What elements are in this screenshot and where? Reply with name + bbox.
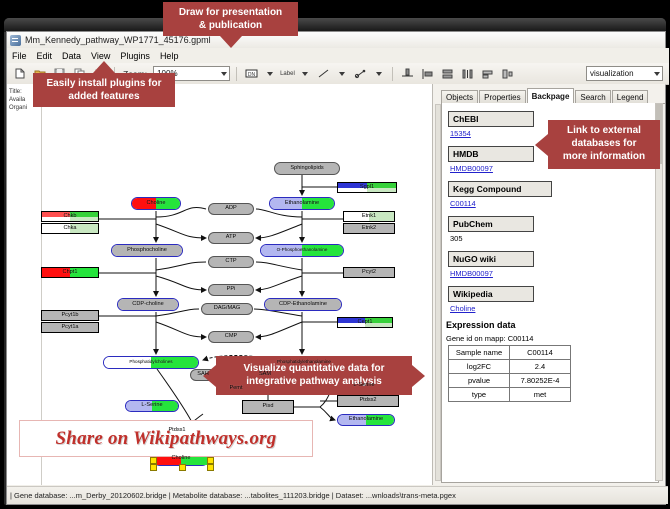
node-label: DAG/MAG <box>214 306 240 312</box>
gene-id-line: Gene id on mapp: C00114 <box>446 334 658 343</box>
stack-vertical-icon[interactable] <box>439 65 456 82</box>
pathway-node-pcyt1b[interactable]: Pcyt1b <box>41 310 99 321</box>
tab-objects[interactable]: Objects <box>441 90 478 103</box>
visualization-combobox[interactable]: visualization <box>586 66 663 81</box>
db-header-kegg: Kegg Compound <box>448 181 552 197</box>
callout-plugins: Easily install plugins for added feature… <box>33 73 175 107</box>
pathway-node-pcyt2[interactable]: Pcyt2 <box>343 267 395 278</box>
tab-legend[interactable]: Legend <box>612 90 649 103</box>
db-header-wikipedia: Wikipedia <box>448 286 534 302</box>
node-label: SAH <box>197 372 209 378</box>
table-row: log2FC 2.4 <box>449 360 571 374</box>
menu-item-edit[interactable]: Edit <box>36 51 54 61</box>
node-label: CDP-Ethanolamine <box>279 302 327 308</box>
svg-text:DN: DN <box>248 72 256 78</box>
db-value-pubchem: 305 <box>450 234 658 243</box>
pathway-node-pcyt1a[interactable]: Pcyt1a <box>41 322 99 333</box>
menu-item-help[interactable]: Help <box>159 51 180 61</box>
side-panel-tabs: Objects Properties Backpage Search Legen… <box>441 88 665 104</box>
db-link-nugo[interactable]: HMDB00097 <box>450 269 658 278</box>
callout-arrow-left <box>535 134 548 156</box>
pathway-node-phosphocholine[interactable]: Phosphocholine <box>111 244 183 257</box>
pathway-node-cdp_ethanolamine[interactable]: CDP-Ethanolamine <box>264 298 342 311</box>
toolbar-separator <box>236 67 237 81</box>
datanode-tool-icon[interactable]: DN <box>243 65 260 82</box>
app-title-bar[interactable]: Mm_Kennedy_pathway_WP1771_45176.gpml <box>7 32 665 49</box>
callout-draw: Draw for presentation & publication <box>163 2 298 36</box>
callout-plugins-line1: Easily install plugins for <box>40 77 168 90</box>
table-row: Sample name C00114 <box>449 346 571 360</box>
row-label-sample-name: Sample name <box>449 346 510 360</box>
pathway-node-atp[interactable]: ATP <box>208 232 254 244</box>
pathway-node-chpt1[interactable]: Chpt1 <box>41 267 99 278</box>
pathway-node-ppi[interactable]: PPi <box>208 284 254 296</box>
db-header-chebi: ChEBI <box>448 111 534 127</box>
align-top-icon[interactable] <box>399 65 416 82</box>
chevron-down-icon <box>654 72 660 76</box>
distribute-icon[interactable] <box>459 65 476 82</box>
node-label: Cept1 <box>358 320 373 326</box>
node-label: Ptdss1 <box>168 428 185 434</box>
tab-search[interactable]: Search <box>575 90 610 103</box>
pathway-node-ethanolamine_top[interactable]: Ethanolamine <box>269 197 335 210</box>
node-label: CTP <box>225 259 236 265</box>
label-dropdown-icon[interactable] <box>298 67 312 81</box>
status-bar-text: | Gene database: ...m_Derby_20120602.bri… <box>10 491 456 500</box>
node-label: Phosphatidylethanolamine <box>277 360 331 365</box>
chevron-down-icon <box>221 72 227 76</box>
callout-plugins-line2: added features <box>40 90 168 103</box>
node-label: Sphingolipids <box>290 166 323 172</box>
node-label: Pcyt1b <box>61 313 78 319</box>
visualization-value: visualization <box>590 69 634 78</box>
app-title-text: Mm_Kennedy_pathway_WP1771_45176.gpml <box>25 35 211 45</box>
expression-table: Sample name C00114 log2FC 2.4 pvalue 7.8… <box>448 345 571 402</box>
table-row: pvalue 7.80252E-4 <box>449 374 571 388</box>
callout-arrow-right <box>412 365 425 387</box>
pathway-node-sgpl1[interactable]: Sgpl1 <box>337 182 397 193</box>
pathway-node-cept1[interactable]: Cept1 <box>337 317 393 328</box>
node-label: Ptdss2 <box>359 398 376 404</box>
node-label: Pisd <box>263 404 274 410</box>
db-link-wikipedia[interactable]: Choline <box>450 304 658 313</box>
menu-item-data[interactable]: Data <box>61 51 82 61</box>
pathway-node-pisd[interactable]: Pisd <box>242 400 294 414</box>
node-label: Choline <box>172 456 191 462</box>
pathway-node-ptdss2[interactable]: Ptdss2 <box>337 395 399 407</box>
node-label: CMP <box>225 334 237 340</box>
line-tool-icon[interactable] <box>315 65 332 82</box>
common-height-icon[interactable] <box>499 65 516 82</box>
pathway-node-l_serine_left[interactable]: L-Serine <box>125 400 179 412</box>
node-label: Phosphocholine <box>127 248 167 254</box>
node-label: Etnk2 <box>362 226 376 232</box>
node-label: Sgpl1 <box>360 185 374 191</box>
pathway-node-dagmag[interactable]: DAG/MAG <box>201 303 253 315</box>
row-value-type: met <box>510 388 571 402</box>
pathway-node-cmp[interactable]: CMP <box>208 331 254 343</box>
node-label: Phosphatidylcholines <box>129 360 172 365</box>
pathway-node-ethanolamine_right[interactable]: Ethanolamine <box>337 414 395 426</box>
tab-properties[interactable]: Properties <box>479 90 525 103</box>
tab-backpage[interactable]: Backpage <box>527 88 575 103</box>
callout-links-line2: databases for <box>555 137 653 150</box>
node-label: Pcyt1a <box>61 325 78 331</box>
share-banner-text: Share on Wikipathways.org <box>56 428 277 450</box>
node-label: Ethanolamine <box>349 417 383 423</box>
callout-arrow-up <box>93 61 115 73</box>
callout-links-line3: more information <box>555 150 653 163</box>
node-label: Etnk1 <box>362 214 376 220</box>
os-title-bar[interactable] <box>4 18 666 32</box>
row-value-log2fc: 2.4 <box>510 360 571 374</box>
callout-links: Link to external databases for more info… <box>548 120 660 169</box>
callout-draw-line2: & publication <box>170 19 291 32</box>
callout-draw-line1: Draw for presentation <box>170 6 291 19</box>
callout-arrow-down <box>220 36 242 48</box>
db-link-kegg[interactable]: C00114 <box>450 199 658 208</box>
callout-links-line1: Link to external <box>555 124 653 137</box>
db-header-hmdb: HMDB <box>448 146 534 162</box>
common-width-icon[interactable] <box>479 65 496 82</box>
menu-item-file[interactable]: File <box>11 51 28 61</box>
toolbar-separator <box>392 67 393 81</box>
node-label: CDP-choline <box>132 302 163 308</box>
pathway-node-etnk2[interactable]: Etnk2 <box>343 223 395 234</box>
pathway-node-etnk1[interactable]: Etnk1 <box>343 211 395 222</box>
row-label-log2fc: log2FC <box>449 360 510 374</box>
pathway-node-cdp_choline[interactable]: CDP-choline <box>117 298 179 311</box>
screenshot-root: Mm_Kennedy_pathway_WP1771_45176.gpml Fil… <box>0 0 670 509</box>
node-label: Ethanolamine <box>285 201 319 207</box>
pathway-node-sphingolipids[interactable]: Sphingolipids <box>274 162 340 175</box>
node-label: Choline <box>147 201 166 207</box>
node-label: ATP <box>226 235 236 241</box>
node-label: O-Phosphoethanolamine <box>277 248 328 253</box>
node-label: L-Serine <box>353 383 374 389</box>
status-bar: | Gene database: ...m_Derby_20120602.bri… <box>7 486 668 504</box>
interaction-dropdown-icon[interactable] <box>372 67 386 81</box>
node-label: Chka <box>63 226 76 232</box>
node-label: ADP <box>225 206 237 212</box>
menu-item-plugins[interactable]: Plugins <box>119 51 151 61</box>
app-icon <box>10 35 21 46</box>
row-value-sample-name: C00114 <box>510 346 571 360</box>
db-header-nugo: NuGO wiki <box>448 251 534 267</box>
node-label: Pemt <box>229 386 242 392</box>
new-file-icon[interactable] <box>11 65 28 82</box>
table-row: type met <box>449 388 571 402</box>
pathway-node-phosphatidylcholines[interactable]: Phosphatidylcholines <box>103 356 199 369</box>
node-label: Pcyt2 <box>362 270 376 276</box>
datanode-dropdown-icon[interactable] <box>263 67 277 81</box>
expression-data-title: Expression data <box>446 320 658 330</box>
share-banner: Share on Wikipathways.org <box>19 420 313 457</box>
row-label-type: type <box>449 388 510 402</box>
row-value-pvalue: 7.80252E-4 <box>510 374 571 388</box>
node-label: L-Serine <box>141 403 162 409</box>
node-label: Chkb <box>63 214 76 220</box>
callout-visualize-line2: integrative pathway analysis <box>223 375 405 388</box>
db-header-pubchem: PubChem <box>448 216 534 232</box>
pathway-node-choline_top[interactable]: Choline <box>131 197 181 210</box>
pathway-node-chkb[interactable]: Chkb <box>41 211 99 222</box>
pathway-node-chka[interactable]: Chka <box>41 223 99 234</box>
node-label: PPi <box>227 287 236 293</box>
node-label: Chpt1 <box>63 270 78 276</box>
pathway-node-o_phosphoethanolamine[interactable]: O-Phosphoethanolamine <box>260 244 344 257</box>
pathway-node-ctp[interactable]: CTP <box>208 256 254 268</box>
node-label: SAM <box>259 372 271 378</box>
row-label-pvalue: pvalue <box>449 374 510 388</box>
menu-item-view[interactable]: View <box>90 51 111 61</box>
align-left-icon[interactable] <box>419 65 436 82</box>
pathway-node-adp[interactable]: ADP <box>208 203 254 215</box>
interaction-tool-icon[interactable] <box>352 65 369 82</box>
line-dropdown-icon[interactable] <box>335 67 349 81</box>
label-tool-label[interactable]: Label <box>280 71 295 77</box>
